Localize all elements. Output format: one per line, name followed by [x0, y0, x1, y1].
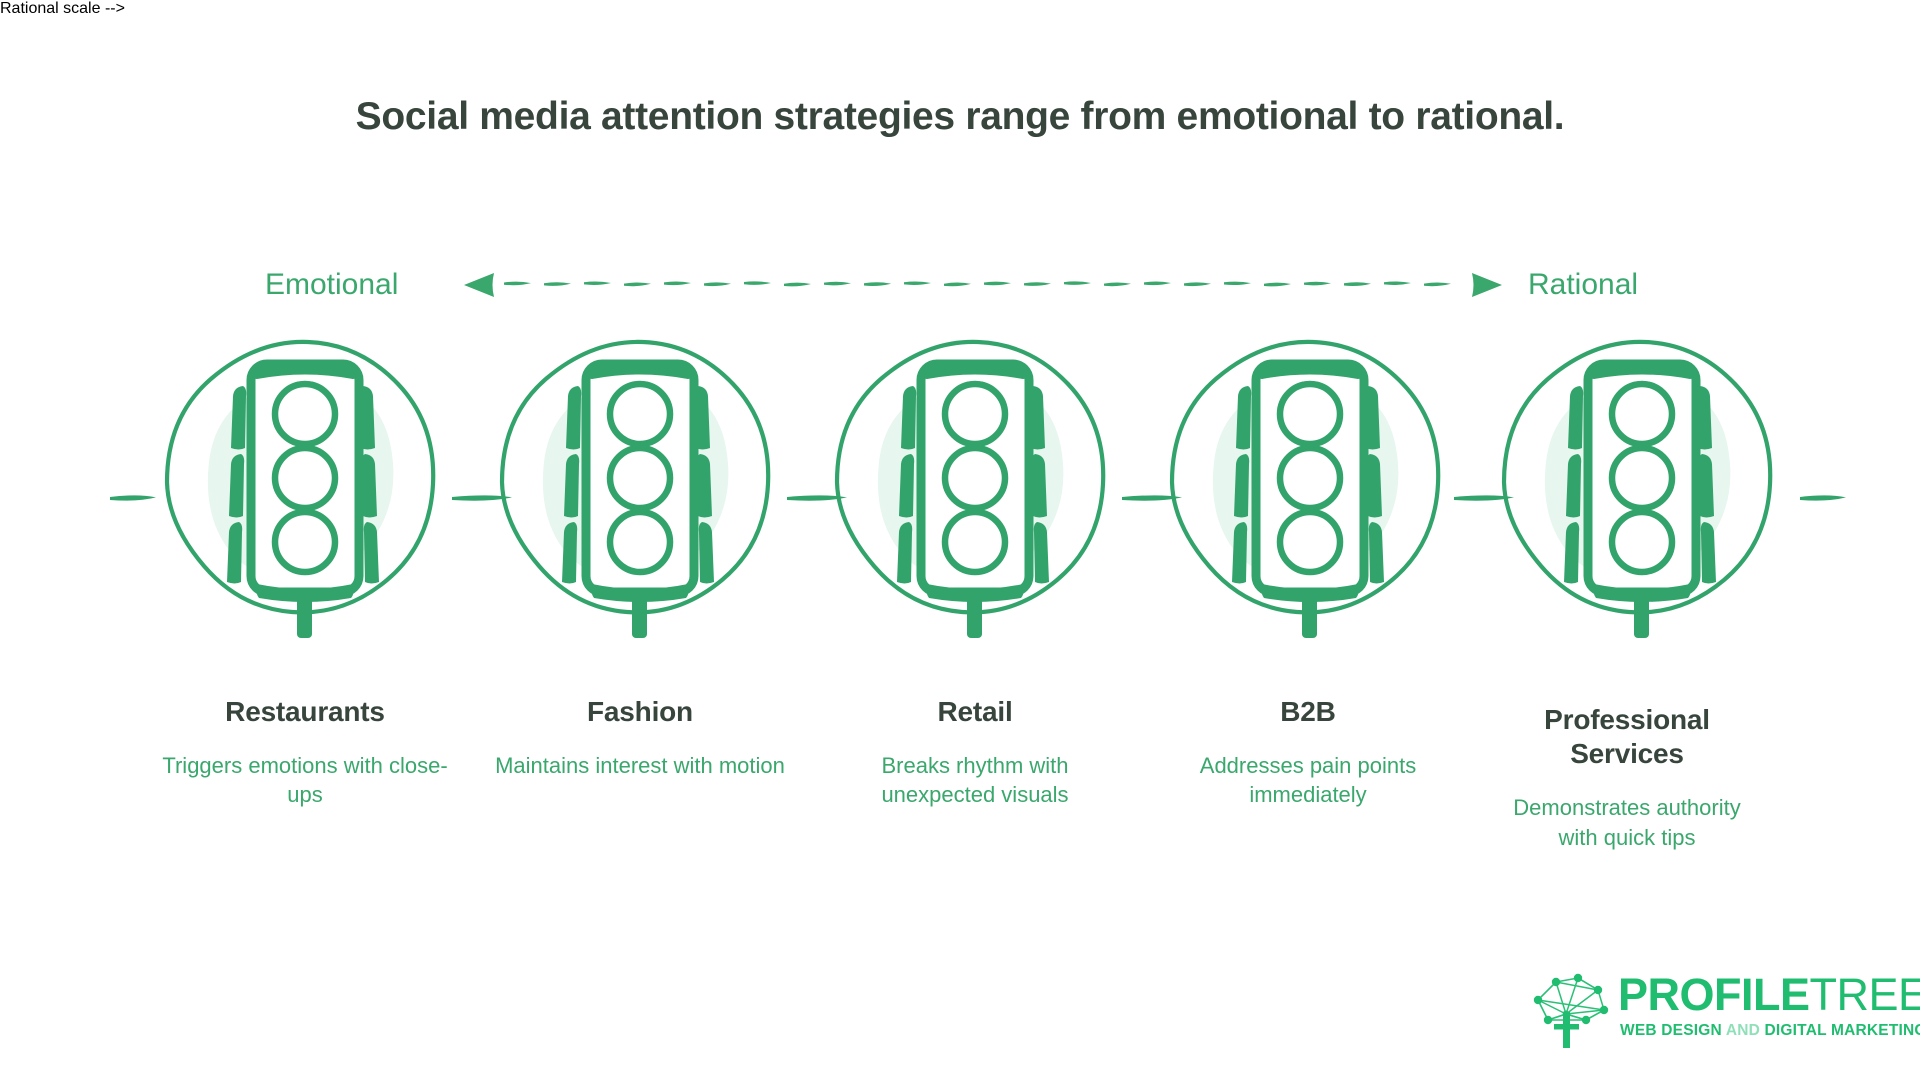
traffic-light-icon: [897, 364, 1049, 638]
node-desc-b2b: Addresses pain points immediately: [1158, 751, 1458, 810]
profiletree-wordmark: PROFILETREE: [1618, 970, 1920, 1020]
tagline-and: AND: [1726, 1022, 1760, 1039]
traffic-light-icon: [562, 364, 714, 638]
profiletree-network-tree-icon: [1526, 968, 1612, 1050]
logo-word-profile: PROFILE: [1618, 969, 1810, 1020]
infographic-canvas: Social media attention strategies range …: [0, 0, 1920, 1080]
node-label-fashion: Fashion: [490, 695, 790, 729]
node-icon-b2b: [1150, 330, 1470, 650]
caption-retail: Retail Breaks rhythm with unexpected vis…: [825, 695, 1125, 810]
node-icon-fashion: [480, 330, 800, 650]
tagline-part-2: DIGITAL MARKETING: [1760, 1022, 1920, 1039]
node-desc-professional-services: Demonstrates authority with quick tips: [1492, 793, 1762, 852]
spectrum-scale: Emotional: [0, 262, 1920, 308]
caption-fashion: Fashion Maintains interest with motion: [490, 695, 790, 780]
logo-word-tree: TREE: [1810, 969, 1920, 1020]
node-icon-retail: [815, 330, 1135, 650]
double-headed-dashed-arrow-icon: [460, 264, 1506, 306]
traffic-light-icon: [227, 364, 379, 638]
spectrum-label-rational: Rational: [1528, 262, 1638, 308]
node-desc-restaurants: Triggers emotions with close-ups: [155, 751, 455, 810]
spectrum-label-emotional: Emotional: [265, 262, 398, 308]
node-desc-fashion: Maintains interest with motion: [490, 751, 790, 780]
node-label-b2b: B2B: [1158, 695, 1458, 729]
profiletree-logo: PROFILETREE WEB DESIGN AND DIGITAL MARKE…: [1526, 968, 1884, 1050]
node-desc-retail: Breaks rhythm with unexpected visuals: [825, 751, 1125, 810]
traffic-light-icon: [1232, 364, 1384, 638]
node-icon-professional-services: [1482, 330, 1802, 650]
profiletree-tagline: WEB DESIGN AND DIGITAL MARKETING: [1620, 1022, 1920, 1040]
node-label-retail: Retail: [825, 695, 1125, 729]
caption-professional-services: Professional Services Demonstrates autho…: [1492, 703, 1762, 852]
traffic-light-icon: [1564, 364, 1716, 638]
tagline-part-1: WEB DESIGN: [1620, 1022, 1726, 1039]
caption-b2b: B2B Addresses pain points immediately: [1158, 695, 1458, 810]
node-label-restaurants: Restaurants: [155, 695, 455, 729]
caption-restaurants: Restaurants Triggers emotions with close…: [155, 695, 455, 810]
page-title: Social media attention strategies range …: [0, 94, 1920, 140]
node-icon-restaurants: [145, 330, 465, 650]
node-row: [0, 330, 1920, 650]
node-label-professional-services: Professional Services: [1492, 703, 1762, 771]
